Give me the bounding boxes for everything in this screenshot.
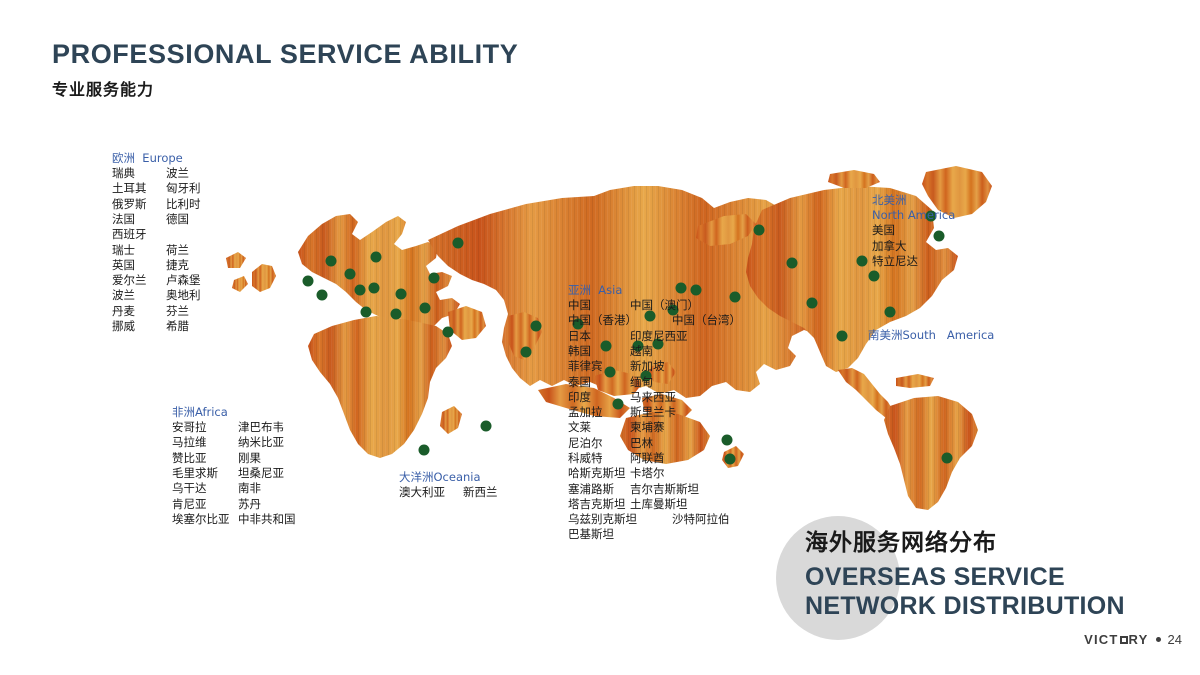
country-name: 越南	[630, 344, 653, 359]
region-list-oceania: 澳大利亚新西兰	[399, 485, 498, 500]
country-name: 马来西亚	[630, 390, 676, 405]
country-name: 毛里求斯	[172, 466, 238, 481]
country-name: 卢森堡	[166, 273, 201, 288]
landmass-iceland	[226, 252, 246, 268]
map-marker	[419, 445, 430, 456]
country-row: 中国中国（澳门）	[568, 298, 741, 313]
country-name: 中国（香港）	[568, 313, 672, 328]
bottom-title-cn: 海外服务网络分布	[805, 529, 1125, 558]
country-row: 哈斯克斯坦卡塔尔	[568, 466, 741, 481]
country-row: 中国（香港）中国（台湾）	[568, 313, 741, 328]
country-row: 孟加拉斯里兰卡	[568, 405, 741, 420]
region-title-africa: 非洲Africa	[172, 405, 296, 420]
country-name: 文莱	[568, 420, 630, 435]
country-name: 西班牙	[112, 227, 166, 242]
country-name: 马拉维	[172, 435, 238, 450]
country-name: 爱尔兰	[112, 273, 166, 288]
country-row: 乌兹别克斯坦沙特阿拉伯	[568, 512, 741, 527]
country-name: 孟加拉	[568, 405, 630, 420]
country-row: 法国德国	[112, 212, 201, 227]
region-block-europe: 欧洲 Europe 瑞典波兰土耳其匈牙利俄罗斯比利时法国德国西班牙瑞士荷兰英国捷…	[112, 151, 201, 334]
map-marker	[754, 225, 765, 236]
country-name: 波兰	[166, 166, 189, 181]
country-row: 尼泊尔巴林	[568, 436, 741, 451]
country-row: 印度马来西亚	[568, 390, 741, 405]
country-row: 加拿大	[872, 239, 955, 254]
country-row: 英国捷克	[112, 258, 201, 273]
country-name: 美国	[872, 223, 895, 238]
map-marker	[345, 269, 356, 280]
map-marker	[371, 252, 382, 263]
country-row: 巴基斯坦	[568, 527, 741, 542]
map-marker	[837, 331, 848, 342]
country-name: 苏丹	[238, 497, 261, 512]
country-row: 马拉维纳米比亚	[172, 435, 296, 450]
country-row: 乌干达南非	[172, 481, 296, 496]
country-name: 匈牙利	[166, 181, 201, 196]
landmass-arctic-islands	[828, 170, 880, 188]
map-marker	[869, 271, 880, 282]
landmass-british-isles	[252, 264, 276, 292]
bottom-title-en: OVERSEAS SERVICE NETWORK DISTRIBUTION	[805, 563, 1125, 622]
bottom-title-en-line2: NETWORK DISTRIBUTION	[805, 592, 1125, 622]
map-marker	[420, 303, 431, 314]
country-name: 吉尔吉斯斯坦	[630, 482, 699, 497]
country-name: 巴基斯坦	[568, 527, 630, 542]
country-name: 哈斯克斯坦	[568, 466, 630, 481]
country-row: 科威特阿联酋	[568, 451, 741, 466]
country-row: 瑞士荷兰	[112, 243, 201, 258]
country-name: 荷兰	[166, 243, 189, 258]
country-row: 瑞典波兰	[112, 166, 201, 181]
region-title-south-america: 南美洲South America	[868, 328, 994, 343]
map-marker	[942, 453, 953, 464]
region-title-north-america: 北美洲 North America	[872, 193, 955, 223]
country-name: 乌兹别克斯坦	[568, 512, 672, 527]
map-marker	[807, 298, 818, 309]
country-name: 坦桑尼亚	[238, 466, 284, 481]
landmass-ireland	[232, 276, 248, 292]
country-row: 特立尼达	[872, 254, 955, 269]
country-row: 澳大利亚新西兰	[399, 485, 498, 500]
map-marker	[787, 258, 798, 269]
map-marker	[396, 289, 407, 300]
brand-text-part2: RY	[1129, 632, 1149, 647]
country-row: 赞比亚刚果	[172, 451, 296, 466]
country-name: 赞比亚	[172, 451, 238, 466]
country-row: 西班牙	[112, 227, 201, 242]
map-marker	[453, 238, 464, 249]
country-name: 瑞士	[112, 243, 166, 258]
map-marker	[857, 256, 868, 267]
country-name: 中非共和国	[238, 512, 296, 527]
country-name: 法国	[112, 212, 166, 227]
map-marker	[885, 307, 896, 318]
region-list-africa: 安哥拉津巴布韦马拉维纳米比亚赞比亚刚果毛里求斯坦桑尼亚乌干达南非肯尼亚苏丹埃塞尔…	[172, 420, 296, 527]
region-block-north-america: 北美洲 North America 美国加拿大特立尼达	[872, 193, 955, 269]
region-block-south-america: 南美洲South America	[868, 328, 994, 343]
country-name: 纳米比亚	[238, 435, 284, 450]
country-row: 肯尼亚苏丹	[172, 497, 296, 512]
country-name: 南非	[238, 481, 261, 496]
country-name: 澳大利亚	[399, 485, 463, 500]
map-marker	[317, 290, 328, 301]
region-title-europe: 欧洲 Europe	[112, 151, 201, 166]
country-row: 俄罗斯比利时	[112, 197, 201, 212]
country-name: 土耳其	[112, 181, 166, 196]
country-name: 刚果	[238, 451, 261, 466]
brand-text-part1: VICT	[1084, 632, 1118, 647]
map-marker	[355, 285, 366, 296]
country-row: 菲律宾新加坡	[568, 359, 741, 374]
landmass-arabia	[448, 306, 486, 340]
country-name: 中国（澳门）	[630, 298, 699, 313]
country-row: 爱尔兰卢森堡	[112, 273, 201, 288]
region-block-asia: 亚洲 Asia 中国中国（澳门）中国（香港）中国（台湾）日本印度尼西亚韩国越南菲…	[568, 283, 741, 543]
country-name: 斯里兰卡	[630, 405, 676, 420]
map-marker	[521, 347, 532, 358]
slide-canvas: PROFESSIONAL SERVICE ABILITY 专业服务能力	[0, 0, 1200, 675]
map-marker	[443, 327, 454, 338]
country-row: 日本印度尼西亚	[568, 329, 741, 344]
region-list-asia: 中国中国（澳门）中国（香港）中国（台湾）日本印度尼西亚韩国越南菲律宾新加坡泰国缅…	[568, 298, 741, 543]
region-block-africa: 非洲Africa 安哥拉津巴布韦马拉维纳米比亚赞比亚刚果毛里求斯坦桑尼亚乌干达南…	[172, 405, 296, 527]
country-row: 塞浦路斯吉尔吉斯斯坦	[568, 482, 741, 497]
country-name: 乌干达	[172, 481, 238, 496]
country-name: 希腊	[166, 319, 189, 334]
country-name: 奥地利	[166, 288, 201, 303]
page-number: 24	[1168, 632, 1182, 647]
page-header: PROFESSIONAL SERVICE ABILITY 专业服务能力	[52, 40, 518, 100]
region-list-europe: 瑞典波兰土耳其匈牙利俄罗斯比利时法国德国西班牙瑞士荷兰英国捷克爱尔兰卢森堡波兰奥…	[112, 166, 201, 334]
region-list-north-america: 美国加拿大特立尼达	[872, 223, 955, 269]
country-row: 安哥拉津巴布韦	[172, 420, 296, 435]
landmass-madagascar	[440, 406, 462, 434]
country-row: 埃塞尔比亚中非共和国	[172, 512, 296, 527]
country-name: 丹麦	[112, 304, 166, 319]
country-row: 美国	[872, 223, 955, 238]
country-row: 挪威希腊	[112, 319, 201, 334]
country-name: 德国	[166, 212, 189, 227]
map-marker	[326, 256, 337, 267]
country-row: 塔吉克斯坦土库曼斯坦	[568, 497, 741, 512]
country-name: 尼泊尔	[568, 436, 630, 451]
country-name: 中国（台湾）	[672, 313, 741, 328]
country-name: 安哥拉	[172, 420, 238, 435]
country-name: 波兰	[112, 288, 166, 303]
country-name: 英国	[112, 258, 166, 273]
country-row: 毛里求斯坦桑尼亚	[172, 466, 296, 481]
map-marker	[429, 273, 440, 284]
footer-bullet-icon	[1156, 637, 1161, 642]
map-marker	[303, 276, 314, 287]
map-marker	[369, 283, 380, 294]
country-name: 菲律宾	[568, 359, 630, 374]
country-name: 卡塔尔	[630, 466, 665, 481]
country-row: 土耳其匈牙利	[112, 181, 201, 196]
region-block-oceania: 大洋洲Oceania 澳大利亚新西兰	[399, 470, 498, 500]
country-name: 肯尼亚	[172, 497, 238, 512]
bottom-title-en-line1: OVERSEAS SERVICE	[805, 563, 1125, 593]
country-name: 埃塞尔比亚	[172, 512, 238, 527]
country-row: 泰国缅甸	[568, 375, 741, 390]
slide-footer: VICT RY 24	[1084, 632, 1182, 647]
bottom-title-block: 海外服务网络分布 OVERSEAS SERVICE NETWORK DISTRI…	[805, 529, 1125, 622]
brand-logo: VICT RY	[1084, 632, 1148, 647]
country-name: 韩国	[568, 344, 630, 359]
country-name: 印度	[568, 390, 630, 405]
country-row: 韩国越南	[568, 344, 741, 359]
country-name: 挪威	[112, 319, 166, 334]
landmass-africa-grain	[308, 316, 452, 458]
landmass-south-america-grain	[884, 396, 978, 510]
landmass-central-america	[838, 368, 894, 418]
country-name: 中国	[568, 298, 630, 313]
map-marker	[531, 321, 542, 332]
country-name: 印度尼西亚	[630, 329, 688, 344]
landmass-caribbean	[896, 374, 934, 388]
country-name: 塔吉克斯坦	[568, 497, 630, 512]
landmass-europe-grain	[298, 214, 460, 328]
country-name: 新加坡	[630, 359, 665, 374]
map-marker	[481, 421, 492, 432]
country-name: 瑞典	[112, 166, 166, 181]
country-row: 波兰奥地利	[112, 288, 201, 303]
brand-square-o-icon	[1120, 636, 1128, 644]
country-name: 加拿大	[872, 239, 907, 254]
country-name: 日本	[568, 329, 630, 344]
country-row: 丹麦芬兰	[112, 304, 201, 319]
country-name: 捷克	[166, 258, 189, 273]
page-title-en: PROFESSIONAL SERVICE ABILITY	[52, 40, 518, 70]
country-name: 缅甸	[630, 375, 653, 390]
country-name: 巴林	[630, 436, 653, 451]
map-marker	[361, 307, 372, 318]
country-name: 土库曼斯坦	[630, 497, 688, 512]
country-name: 泰国	[568, 375, 630, 390]
country-row: 文莱柬埔寨	[568, 420, 741, 435]
country-name: 特立尼达	[872, 254, 918, 269]
country-name: 津巴布韦	[238, 420, 284, 435]
map-marker	[391, 309, 402, 320]
country-name: 沙特阿拉伯	[672, 512, 730, 527]
country-name: 塞浦路斯	[568, 482, 630, 497]
country-name: 比利时	[166, 197, 201, 212]
region-title-oceania: 大洋洲Oceania	[399, 470, 498, 485]
country-name: 俄罗斯	[112, 197, 166, 212]
country-name: 柬埔寨	[630, 420, 665, 435]
country-name: 新西兰	[463, 485, 498, 500]
country-name: 芬兰	[166, 304, 189, 319]
country-name: 阿联酋	[630, 451, 665, 466]
country-name: 科威特	[568, 451, 630, 466]
page-title-cn: 专业服务能力	[52, 76, 518, 100]
region-title-asia: 亚洲 Asia	[568, 283, 741, 298]
